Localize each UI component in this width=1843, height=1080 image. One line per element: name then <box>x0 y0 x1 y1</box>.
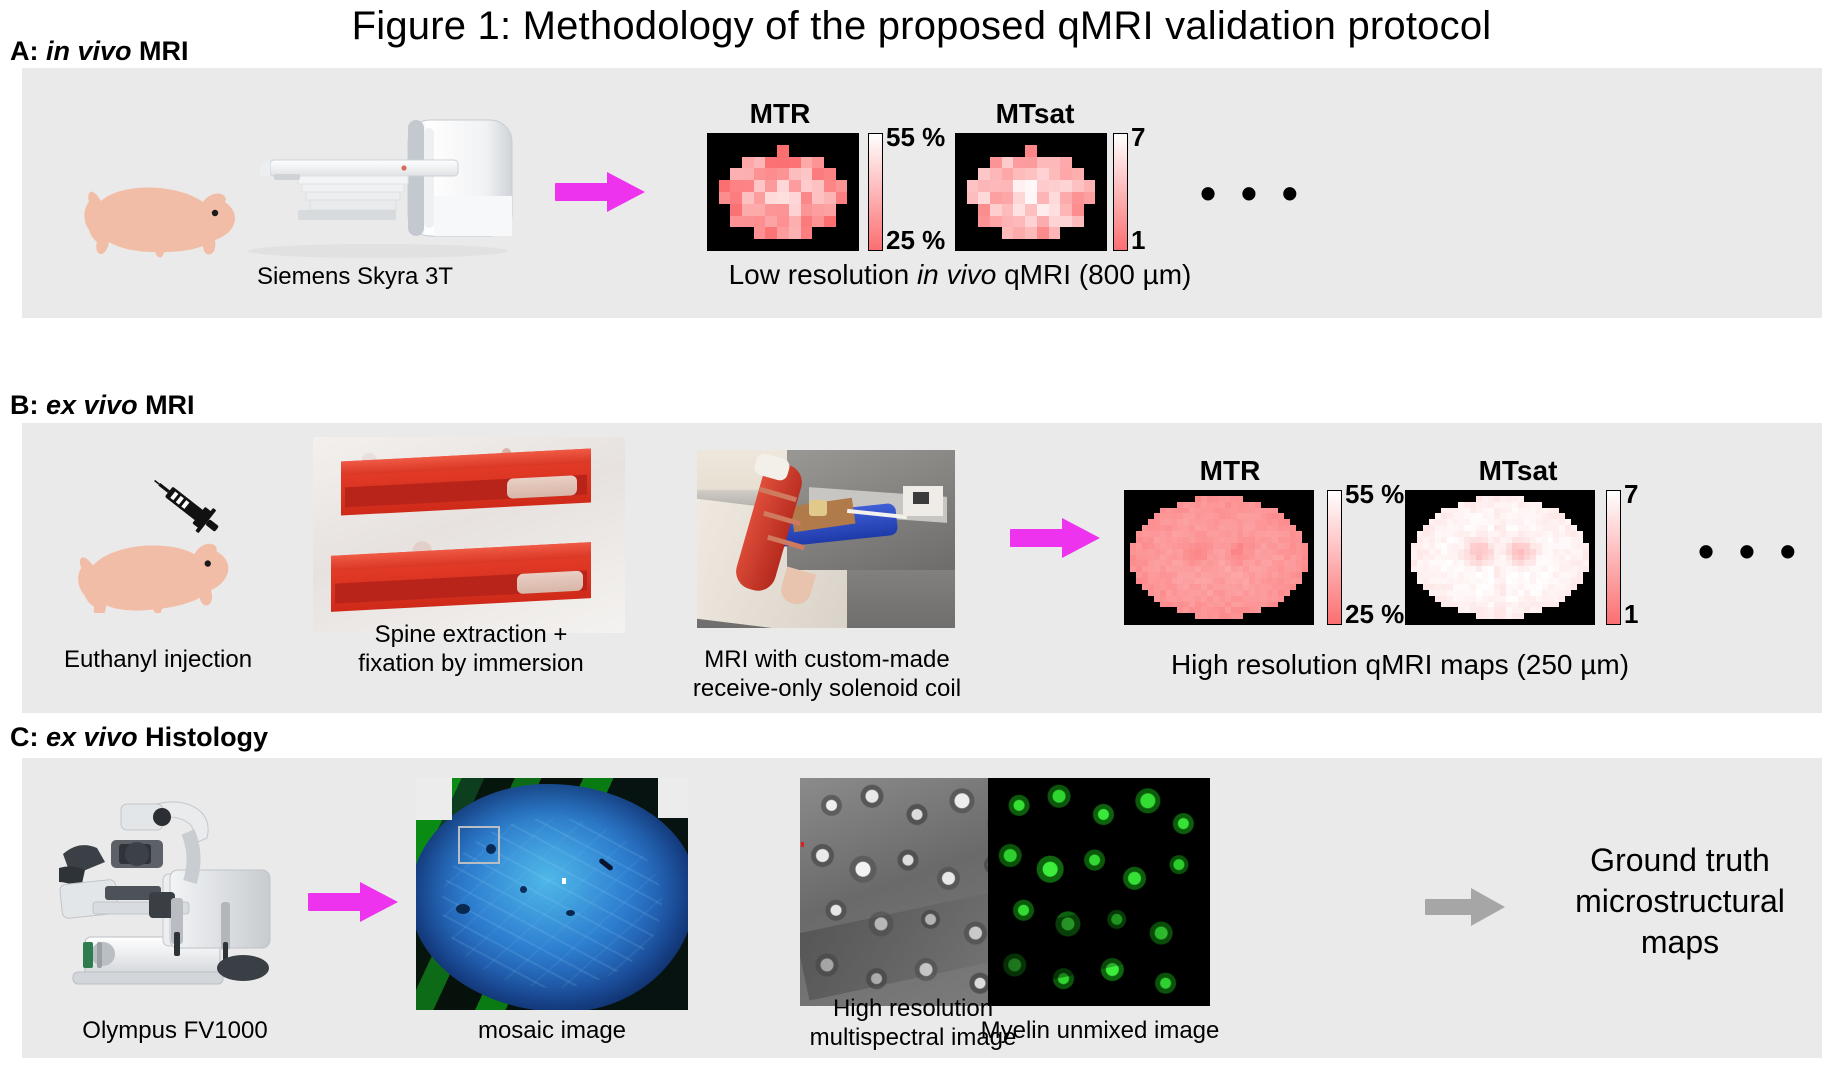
colorbar-min-mtsat-a: 1 <box>1131 225 1145 256</box>
panel-a-label-prefix: A: <box>10 36 46 66</box>
caption-spine-line1: Spine extraction + <box>318 620 624 649</box>
colorbar-mtr-b <box>1327 490 1342 625</box>
spine-tray-photo <box>313 437 625 633</box>
caption-maps-a-suffix: qMRI (800 µm) <box>996 259 1191 290</box>
caption-injection-b: Euthanyl injection <box>18 645 298 674</box>
result-line3: maps <box>1530 922 1830 963</box>
result-line1: Ground truth <box>1530 840 1830 881</box>
colorbar-max-mtr-a: 55 % <box>886 122 945 153</box>
caption-spine-b: Spine extraction + fixation by immersion <box>318 620 624 679</box>
panel-b-label: B: ex vivo MRI <box>10 390 195 421</box>
colorbar-mtsat-b <box>1606 490 1621 625</box>
panel-c-label-suffix: Histology <box>138 722 269 752</box>
caption-maps-a-italic: in vivo <box>917 259 996 290</box>
colorbar-min-mtsat-b: 1 <box>1624 599 1638 630</box>
qmri-map-mtr-b <box>1124 490 1314 625</box>
colorbar-min-mtr-a: 25 % <box>886 225 945 256</box>
arrow-right-icon-c <box>308 880 398 924</box>
caption-maps-a: Low resolution in vivo qMRI (800 µm) <box>600 258 1320 292</box>
caption-coil-b: MRI with custom-made receive-only soleno… <box>672 645 982 704</box>
colorbar-max-mtsat-a: 7 <box>1131 122 1145 153</box>
caption-myelin-c: Myelin unmixed image <box>955 1016 1245 1045</box>
mosaic-image <box>416 778 688 1010</box>
microscope-icon <box>45 782 295 992</box>
panel-c-label-italic: ex vivo <box>46 722 138 752</box>
panel-a-label: A: in vivo MRI <box>10 36 189 67</box>
qmri-map-mtsat-b <box>1405 490 1595 625</box>
panel-b-label-suffix: MRI <box>138 390 195 420</box>
arrow-right-icon-result <box>1425 885 1525 929</box>
colorbar-max-mtsat-b: 7 <box>1624 479 1638 510</box>
caption-mosaic-c: mosaic image <box>412 1016 692 1045</box>
caption-maps-b: High resolution qMRI maps (250 µm) <box>1080 648 1720 682</box>
pig-icon <box>75 168 240 258</box>
colorbar-min-mtr-b: 25 % <box>1345 599 1404 630</box>
arrow-right-icon-b <box>1010 516 1100 560</box>
panel-a-label-suffix: MRI <box>132 36 189 66</box>
ellipsis-b: • • • <box>1698 528 1802 574</box>
panel-c-label-prefix: C: <box>10 722 46 752</box>
arrow-right-icon-a <box>555 170 645 214</box>
qmri-map-mtr-a <box>707 133 859 251</box>
result-label: Ground truth microstructural maps <box>1530 840 1830 963</box>
result-line2: microstructural <box>1530 881 1830 922</box>
caption-coil-line1: MRI with custom-made <box>672 645 982 674</box>
colorbar-mtsat-a <box>1113 133 1128 251</box>
map-title-mtr-a: MTR <box>700 98 860 130</box>
qmri-map-mtsat-a <box>955 133 1107 251</box>
caption-scanner-a: Siemens Skyra 3T <box>215 262 495 291</box>
figure-title: Figure 1: Methodology of the proposed qM… <box>0 4 1843 49</box>
panel-b-label-prefix: B: <box>10 390 46 420</box>
syringe-icon <box>148 470 228 542</box>
caption-maps-a-prefix: Low resolution <box>729 259 917 290</box>
panel-b-label-italic: ex vivo <box>46 390 138 420</box>
colorbar-max-mtr-b: 55 % <box>1345 479 1404 510</box>
caption-microscope-c: Olympus FV1000 <box>30 1016 320 1045</box>
ellipsis-a: • • • <box>1200 170 1304 216</box>
map-title-mtr-b: MTR <box>1150 455 1310 487</box>
colorbar-mtr-a <box>868 133 883 251</box>
mri-scanner-icon <box>238 108 518 258</box>
caption-spine-line2: fixation by immersion <box>318 649 624 678</box>
map-title-mtsat-a: MTsat <box>950 98 1120 130</box>
caption-coil-line2: receive-only solenoid coil <box>672 674 982 703</box>
panel-a-label-italic: in vivo <box>46 36 132 66</box>
myelin-image <box>988 778 1210 1006</box>
panel-c-label: C: ex vivo Histology <box>10 722 268 753</box>
map-title-mtsat-b: MTsat <box>1428 455 1608 487</box>
solenoid-coil-photo <box>697 450 955 628</box>
